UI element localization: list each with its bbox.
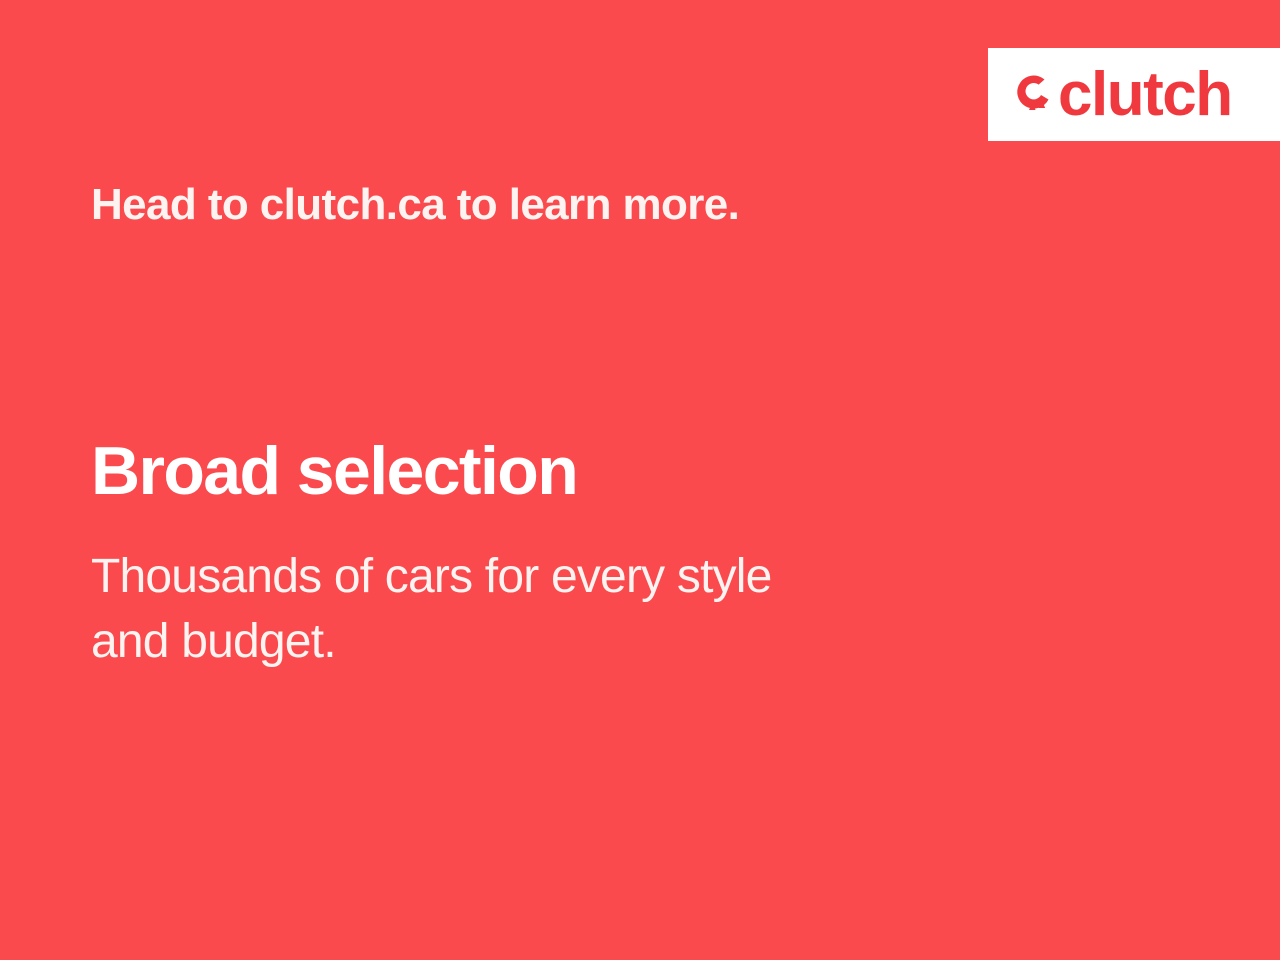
eyebrow-text: Head to clutch.ca to learn more. xyxy=(91,181,739,229)
subheadline: Thousands of cars for every style and bu… xyxy=(91,545,772,675)
page-title: Broad selection xyxy=(91,436,577,507)
clutch-wordmark: clutch xyxy=(1058,64,1232,126)
promo-slide: clutch Head to clutch.ca to learn more. … xyxy=(0,0,1280,960)
clutch-logo[interactable]: clutch xyxy=(1010,64,1232,126)
subheadline-line-2: and budget. xyxy=(91,610,772,675)
clutch-logo-plate[interactable]: clutch xyxy=(988,48,1280,141)
clutch-c-mark-icon xyxy=(1010,68,1058,124)
subheadline-line-1: Thousands of cars for every style xyxy=(91,545,772,610)
